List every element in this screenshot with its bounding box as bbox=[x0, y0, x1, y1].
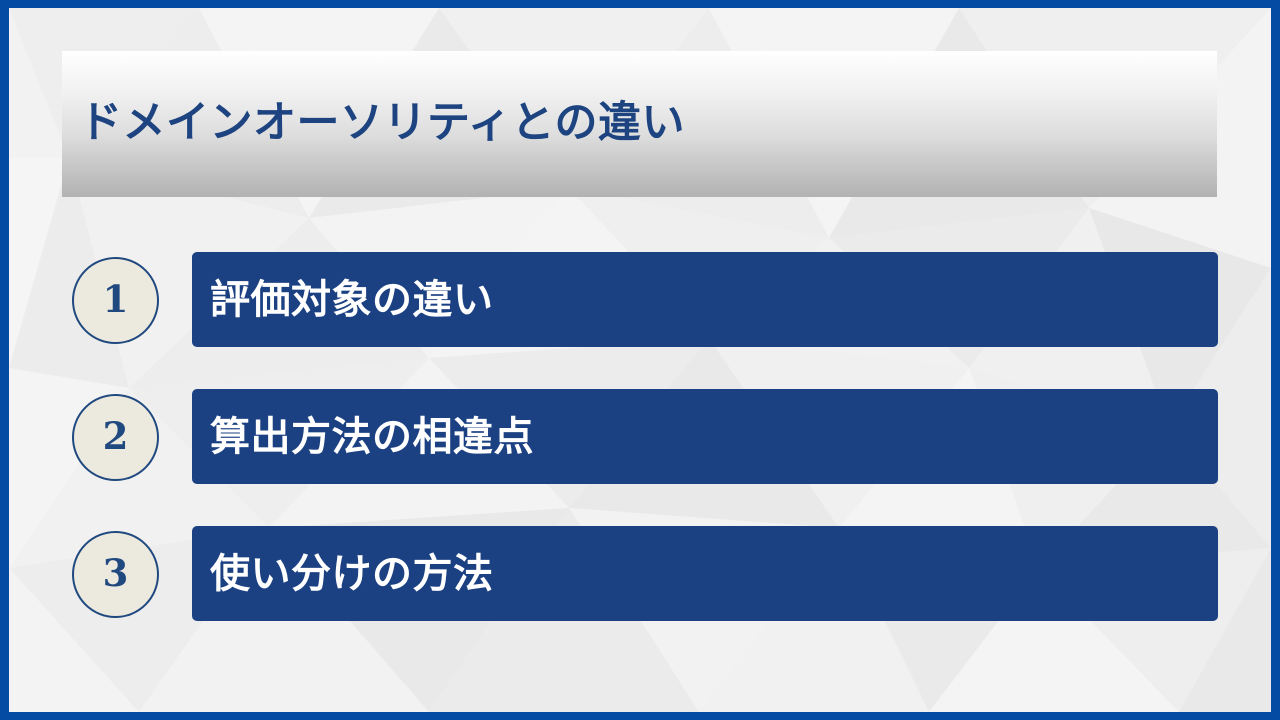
list-item-number: 2 bbox=[103, 418, 129, 457]
list-item-number: 3 bbox=[103, 555, 129, 594]
list-item[interactable]: 2 算出方法の相違点 bbox=[9, 389, 1271, 484]
list-item-label: 使い分けの方法 bbox=[210, 554, 494, 594]
list-item-bar[interactable]: 算出方法の相違点 bbox=[192, 389, 1218, 484]
title-band: ドメインオーソリティとの違い bbox=[62, 51, 1217, 197]
list-item[interactable]: 3 使い分けの方法 bbox=[9, 526, 1271, 621]
list-item[interactable]: 1 評価対象の違い bbox=[9, 252, 1271, 347]
list-item-label: 評価対象の違い bbox=[210, 280, 494, 320]
slide-canvas: ドメインオーソリティとの違い 1 評価対象の違い 2 算出方法の相違点 bbox=[9, 8, 1271, 712]
slide: ドメインオーソリティとの違い 1 評価対象の違い 2 算出方法の相違点 bbox=[0, 0, 1280, 720]
list-item-label: 算出方法の相違点 bbox=[210, 417, 534, 457]
list-item-number-badge: 1 bbox=[72, 257, 159, 344]
list-item-number-badge: 3 bbox=[72, 531, 159, 618]
page-title: ドメインオーソリティとの違い bbox=[79, 100, 685, 147]
list-item-bar[interactable]: 使い分けの方法 bbox=[192, 526, 1218, 621]
list-item-number: 1 bbox=[103, 281, 129, 320]
list-item-bar[interactable]: 評価対象の違い bbox=[192, 252, 1218, 347]
numbered-list: 1 評価対象の違い 2 算出方法の相違点 3 使い分けの方法 bbox=[9, 252, 1271, 663]
list-item-number-badge: 2 bbox=[72, 394, 159, 481]
